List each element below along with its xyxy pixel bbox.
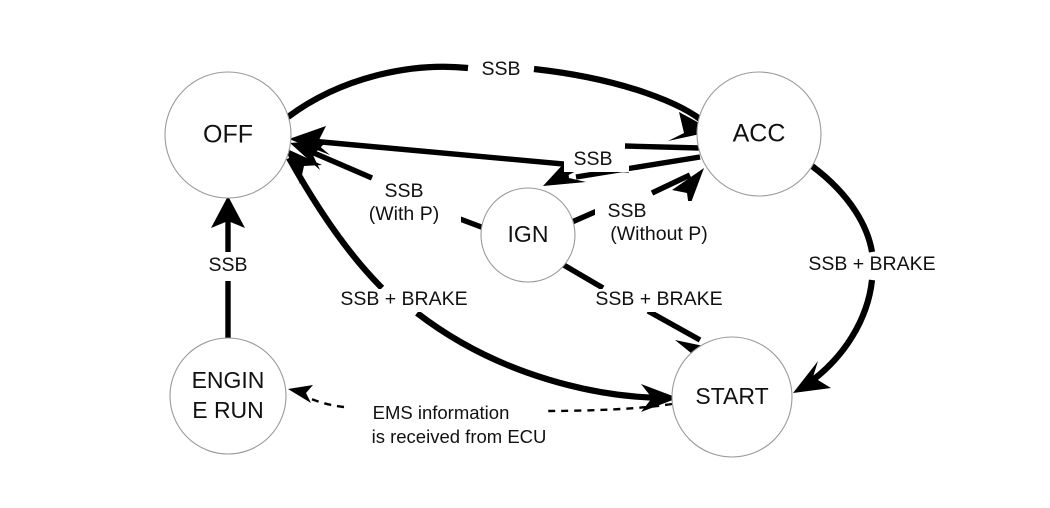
edge-label-ign-to-acc: SSB (Without P) (595, 200, 723, 248)
edge-label-acc-to-ign-text: SSB (573, 148, 612, 170)
edge-label-enginerun-to-off-text: SSB (208, 254, 247, 276)
node-acc[interactable]: ACC (697, 72, 821, 196)
edge-ign-to-start (562, 264, 713, 368)
edge-label-ign-to-off-text-line2: (With P) (369, 203, 439, 225)
edge-acc-to-start (793, 166, 872, 393)
edge-label-off-to-acc-text: SSB (481, 58, 520, 80)
edge-label-acc-to-start-text: SSB + BRAKE (808, 253, 935, 275)
edge-label-acc-to-start: SSB + BRAKE (793, 253, 951, 277)
node-acc-label: ACC (733, 120, 786, 148)
node-off[interactable]: OFF (165, 72, 291, 198)
edge-ign-to-start-path-near (562, 264, 603, 288)
state-diagram-canvas: OFF ACC IGN ENGIN E RUN START SSB SSB (0, 0, 1050, 508)
edge-off-to-acc-path-left (288, 67, 468, 117)
edge-label-ign-to-acc-text-line2: (Without P) (610, 223, 708, 245)
edge-label-acc-to-ign: SSB (564, 148, 622, 172)
edge-label-ign-to-start-text: SSB + BRAKE (595, 288, 722, 310)
edge-label-start-to-enginerun-text-line2: is received from ECU (372, 426, 547, 447)
node-start[interactable]: START (672, 337, 792, 457)
edge-ign-to-start-path-far (648, 311, 700, 340)
edge-label-ign-to-off-text-line1: SSB (384, 180, 423, 202)
edge-label-ign-to-off: SSB (With P) (349, 180, 461, 228)
edge-label-start-to-enginerun: EMS information is received from ECU (349, 402, 546, 447)
node-start-label: START (695, 383, 768, 409)
edge-label-off-to-acc: SSB (471, 58, 531, 82)
node-off-label: OFF (203, 121, 253, 149)
edge-start-to-enginerun-arrowhead (288, 385, 313, 403)
edge-label-ign-to-start: SSB + BRAKE (585, 288, 733, 312)
edge-label-ign-to-acc-text-line1: SSB (607, 200, 646, 222)
node-engine-run-label-line2: E RUN (192, 397, 264, 423)
edge-off-to-start (285, 148, 678, 412)
node-ign-label: IGN (508, 221, 549, 247)
node-engine-run-circle[interactable] (170, 338, 286, 454)
edge-acc-to-start-path-upper (812, 166, 872, 252)
edge-acc-to-start-path-lower (806, 280, 872, 385)
edge-off-to-start-path-lower (417, 313, 668, 398)
edge-label-off-to-start-text: SSB + BRAKE (340, 288, 467, 310)
edge-label-enginerun-to-off: SSB (199, 254, 257, 278)
node-engine-run-label-line1: ENGIN (192, 367, 265, 393)
edge-label-off-to-start: SSB + BRAKE (330, 288, 478, 312)
node-engine-run[interactable]: ENGIN E RUN (170, 338, 286, 454)
edge-acc-to-ign-path (625, 146, 700, 148)
edge-label-start-to-enginerun-text-line1: EMS information (373, 402, 510, 423)
state-diagram-svg: OFF ACC IGN ENGIN E RUN START SSB SSB (0, 0, 1050, 508)
node-ign[interactable]: IGN (481, 188, 575, 282)
